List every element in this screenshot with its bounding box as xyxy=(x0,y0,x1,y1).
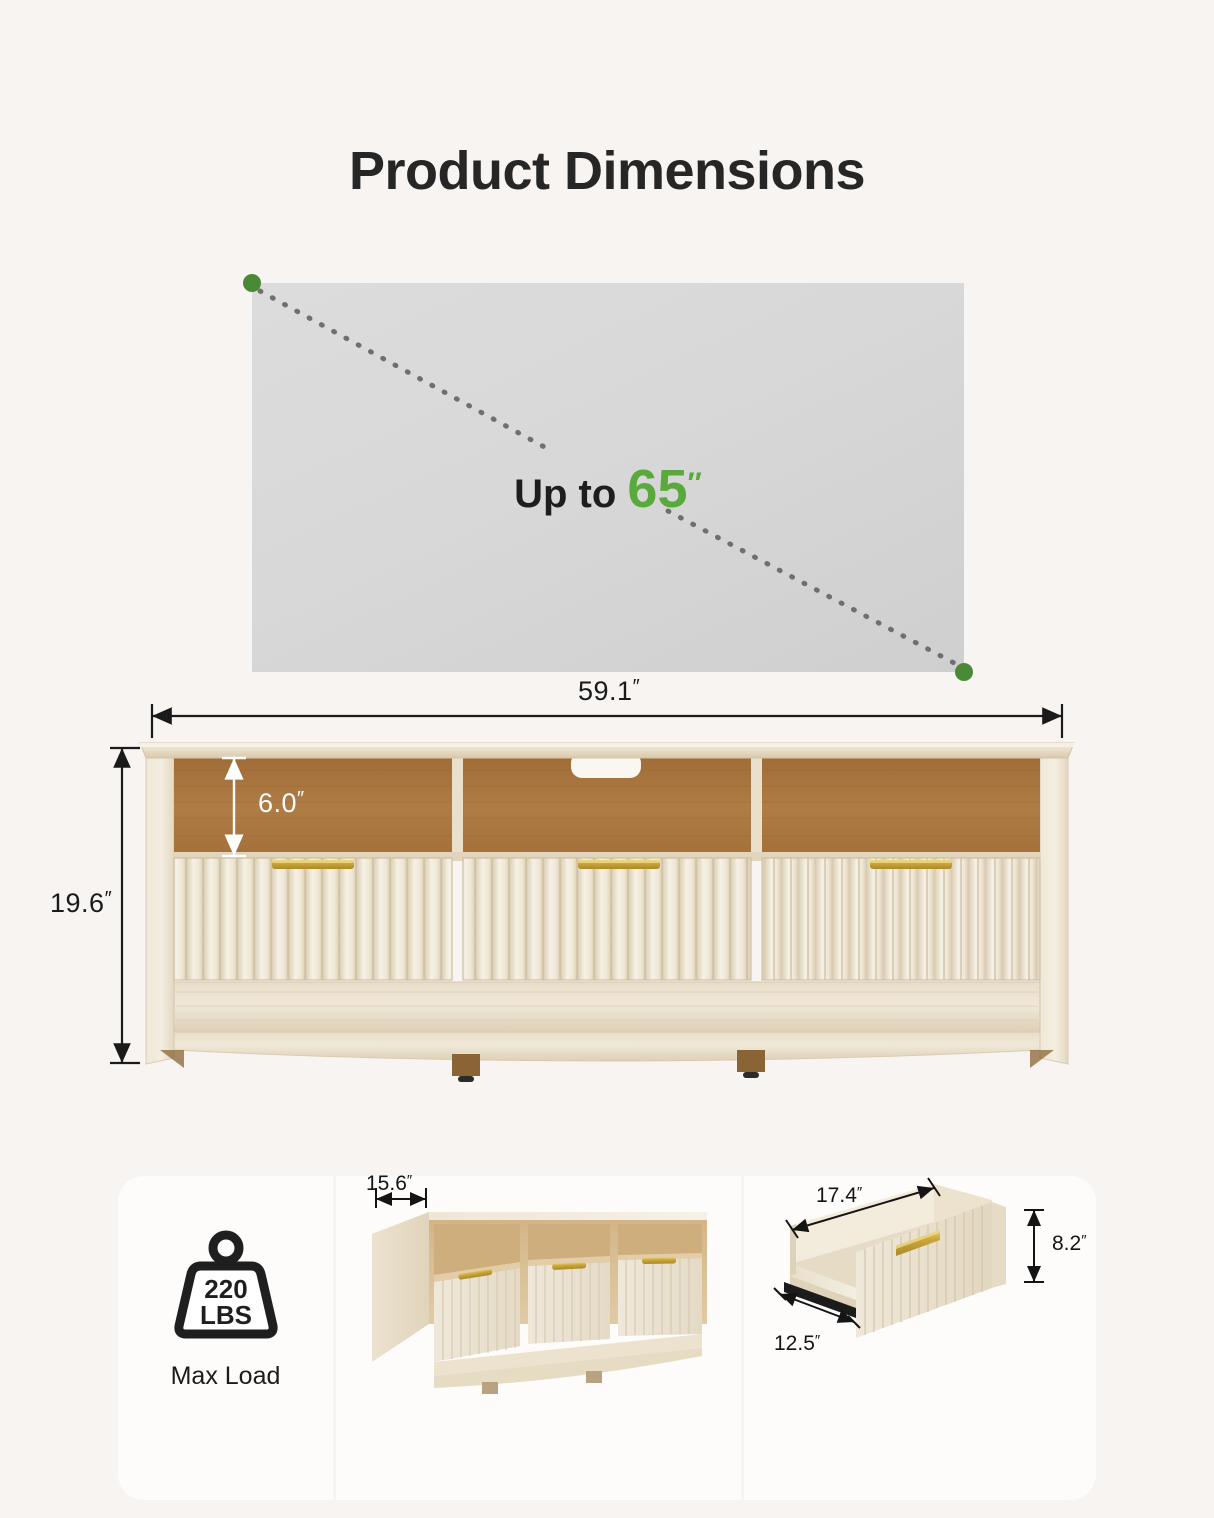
drawer-handle-1 xyxy=(272,860,354,869)
drawer-depth-dimension-label: 12.5″ xyxy=(774,1332,820,1356)
cabinet-foot-left xyxy=(452,1054,480,1082)
corner-dot-icon-bottom-right xyxy=(955,663,973,681)
height-dimension-line xyxy=(110,748,140,1063)
weight-unit: LBS xyxy=(200,1300,252,1330)
tv-size-unit: ″ xyxy=(688,467,702,500)
page-title: Product Dimensions xyxy=(0,140,1214,202)
weight-icon: 220 LBS xyxy=(171,1228,281,1348)
height-dimension-label: 19.6″ xyxy=(50,888,112,919)
shelf-height-dimension-label: 6.0″ xyxy=(258,788,305,819)
drawer-height-dimension-label: 8.2″ xyxy=(1052,1232,1087,1256)
front-view-svg xyxy=(0,690,1214,1100)
tv-size-value: 65 xyxy=(627,459,687,519)
depth-dimension-label: 15.6″ xyxy=(366,1172,412,1196)
card-drawer-view: 17.4″ 8.2″ 12.5″ xyxy=(744,1176,1096,1500)
tv-stand-perspective-icon xyxy=(336,1176,741,1500)
detail-cards-panel: 220 LBS Max Load xyxy=(118,1176,1096,1500)
width-dimension-line xyxy=(152,704,1062,738)
card-max-load: 220 LBS Max Load xyxy=(118,1176,333,1500)
drawer-front-3 xyxy=(762,858,1040,980)
tv-size-prefix: Up to xyxy=(514,472,616,516)
cabinet-foot-right xyxy=(737,1050,765,1078)
drawer-handle-3 xyxy=(870,860,952,869)
drawer-front-1 xyxy=(174,858,452,980)
drawer-width-dimension-label: 17.4″ xyxy=(816,1184,862,1208)
max-load-caption: Max Load xyxy=(171,1362,281,1391)
corner-dot-icon-top-left xyxy=(243,274,261,292)
drawer-front-2 xyxy=(463,858,751,980)
front-view-illustration: 59.1″ 19.6″ 6.0″ xyxy=(0,690,1214,1100)
tv-size-illustration: Up to 65″ xyxy=(252,283,964,672)
drawer-handle-2 xyxy=(578,860,660,869)
card-depth-view: 15.6″ xyxy=(336,1176,741,1500)
width-dimension-label: 59.1″ xyxy=(578,676,640,707)
tv-size-caption: Up to 65″ xyxy=(252,458,964,520)
